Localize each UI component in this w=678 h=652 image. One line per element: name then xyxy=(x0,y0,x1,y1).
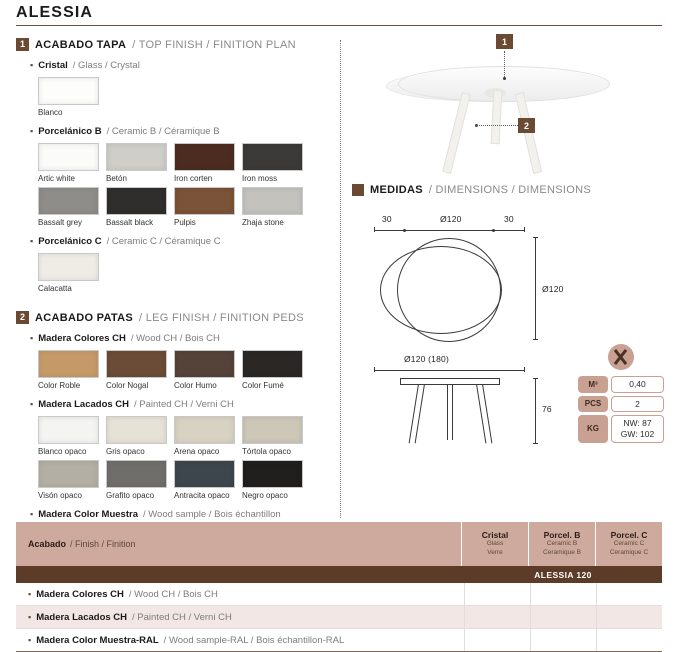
swatch-item[interactable]: Negro opaco xyxy=(242,460,306,500)
swatch-label: Artic white xyxy=(38,174,102,183)
dim-tick xyxy=(524,227,525,232)
swatch-row-porcc: Calacatta xyxy=(38,253,328,293)
swatch-label: Gris opaco xyxy=(106,447,170,456)
table-row-tr: / Wood CH / Bois CH xyxy=(129,589,218,600)
column-title-en: Ceramic C xyxy=(614,540,645,549)
dim-side-width: Ø120 (180) xyxy=(404,354,449,364)
section-header-top-finish: 1 ACABADO TAPA / TOP FINISH / FINITION P… xyxy=(16,38,328,51)
column-title-fr: Ceramique B xyxy=(543,549,581,558)
bullet-label-es: Madera Color Muestra xyxy=(38,509,138,520)
bullet-dot-icon: ▪ xyxy=(30,127,33,136)
swatch-chip[interactable] xyxy=(242,350,303,378)
swatch-label: Color Roble xyxy=(38,381,102,390)
swatch-item[interactable]: Color Nogal xyxy=(106,350,170,390)
swatch-item[interactable]: Bassalt black xyxy=(106,187,170,227)
table-cell xyxy=(464,629,530,651)
logistics-box: M³ 0,40 PCS 2 KG NW: 87 GW: 102 xyxy=(578,344,664,446)
table-row: ▪ Madera Lacados CH / Painted CH / Verni… xyxy=(16,606,662,629)
column-title-es: Cristal xyxy=(482,530,508,540)
swatch-label: Bassalt black xyxy=(106,218,170,227)
swatch-label: Betón xyxy=(106,174,170,183)
column-divider xyxy=(340,40,341,518)
table-row: ▪ Madera Colores CH / Wood CH / Bois CH xyxy=(16,583,662,606)
swatch-item[interactable]: Iron corten xyxy=(174,143,238,183)
table-header-label: Acabado / Finish / Finition xyxy=(16,522,461,566)
swatch-item[interactable]: Bassalt grey xyxy=(38,187,102,227)
section-badge-1: 1 xyxy=(16,38,29,51)
swatch-label: Antracita opaco xyxy=(174,491,238,500)
column-title-es: Porcel. C xyxy=(611,530,648,540)
swatch-chip[interactable] xyxy=(242,187,303,215)
logistics-key: PCS xyxy=(578,396,608,413)
dim-height: 76 xyxy=(542,404,552,414)
swatch-item[interactable]: Color Humo xyxy=(174,350,238,390)
logistics-row-pieces: PCS 2 xyxy=(578,396,664,413)
dim-tick xyxy=(403,229,406,232)
assembly-tools-icon xyxy=(608,344,634,370)
swatch-chip[interactable] xyxy=(174,460,235,488)
bullet-label-tr: / Wood sample / Bois échantillon xyxy=(143,509,281,520)
column-title-en: Glass xyxy=(487,540,504,549)
section-title-es: ACABADO TAPA xyxy=(35,39,126,51)
swatch-label: Blanco opaco xyxy=(38,447,102,456)
section-title-translations: / LEG FINISH / FINITION PEDS xyxy=(139,312,304,324)
swatch-item[interactable]: Antracita opaco xyxy=(174,460,238,500)
bullet-porcelanico-c: ▪ Porcelánico C / Ceramic C / Céramique … xyxy=(30,236,328,247)
page-title-block: ALESSIA xyxy=(16,4,662,26)
logistics-value: NW: 87 GW: 102 xyxy=(611,415,664,442)
section-header-leg-finish: 2 ACABADO PATAS / LEG FINISH / FINITION … xyxy=(16,311,328,324)
table-row-es: Madera Lacados CH xyxy=(36,612,127,623)
bullet-dot-icon: ▪ xyxy=(30,237,33,246)
swatch-label: Blanco xyxy=(38,108,102,117)
bullet-dot-icon: ▪ xyxy=(28,636,31,645)
bullet-label-tr: / Ceramic C / Céramique C xyxy=(107,236,221,247)
swatch-label: Iron corten xyxy=(174,174,238,183)
swatch-chip[interactable] xyxy=(174,187,235,215)
side-view-leg xyxy=(476,384,486,443)
swatch-chip[interactable] xyxy=(106,350,167,378)
measures-title-translations: / DIMENSIONS / DIMENSIONS xyxy=(429,184,591,196)
dim-left-extension: 30 xyxy=(382,214,392,224)
table-cell xyxy=(530,629,596,651)
column-title-fr: Verre xyxy=(487,549,503,558)
swatch-item[interactable]: Blanco opaco xyxy=(38,416,102,456)
section-title-es: ACABADO PATAS xyxy=(35,312,133,324)
swatch-label: Calacatta xyxy=(38,284,102,293)
title-rule xyxy=(16,25,662,26)
bullet-dot-icon: ▪ xyxy=(30,61,33,70)
bullet-label-tr: / Painted CH / Verni CH xyxy=(134,399,234,410)
callout-point-1 xyxy=(503,77,506,80)
bullet-dot-icon: ▪ xyxy=(28,613,31,622)
table-cell xyxy=(596,629,662,651)
swatch-item[interactable]: Arena opaco xyxy=(174,416,238,456)
bullet-dot-icon: ▪ xyxy=(30,334,33,343)
product-photo: 1 2 xyxy=(352,30,672,182)
logistics-row-weight: KG NW: 87 GW: 102 xyxy=(578,415,664,442)
swatch-item[interactable]: Visón opaco xyxy=(38,460,102,500)
dim-height-line xyxy=(535,378,536,444)
table-cell xyxy=(464,606,530,628)
table-header-row: Acabado / Finish / Finition Cristal Glas… xyxy=(16,522,662,566)
bullet-madera-muestra: ▪ Madera Color Muestra / Wood sample / B… xyxy=(30,509,328,520)
swatch-chip[interactable] xyxy=(242,143,303,171)
bullet-madera-colores: ▪ Madera Colores CH / Wood CH / Bois CH xyxy=(30,333,328,344)
swatch-item[interactable]: Pulpis xyxy=(174,187,238,227)
model-band: ALESSIA 120 xyxy=(16,566,662,583)
swatch-label: Bassalt grey xyxy=(38,218,102,227)
bullet-label-tr: / Wood CH / Bois CH xyxy=(131,333,220,344)
table-row-label: ▪ Madera Colores CH / Wood CH / Bois CH xyxy=(16,589,464,600)
swatch-item[interactable]: Iron moss xyxy=(242,143,306,183)
table-leg xyxy=(442,92,471,174)
side-view-apron xyxy=(400,384,500,385)
swatch-label: Grafito opaco xyxy=(106,491,170,500)
dim-tick xyxy=(492,229,495,232)
dim-depth: Ø120 xyxy=(542,284,564,294)
swatch-item[interactable]: Betón xyxy=(106,143,170,183)
dim-chain-line xyxy=(374,230,524,231)
swatch-row-lacquer-2: Visón opaco Grafito opaco Antracita opac… xyxy=(38,460,328,500)
measures-title-es: MEDIDAS xyxy=(370,184,423,196)
swatch-label: Arena opaco xyxy=(174,447,238,456)
logistics-row-volume: M³ 0,40 xyxy=(578,376,664,393)
callout-badge-2: 2 xyxy=(518,118,535,133)
swatch-chip[interactable] xyxy=(106,143,167,171)
column-title-en: Ceramic B xyxy=(547,540,577,549)
side-view-leg xyxy=(452,384,453,440)
swatch-label: Pulpis xyxy=(174,218,238,227)
callout-leader-2 xyxy=(476,125,518,126)
swatch-item[interactable]: Zhaja stone xyxy=(242,187,306,227)
bullet-madera-lacados: ▪ Madera Lacados CH / Painted CH / Verni… xyxy=(30,399,328,410)
swatch-chip[interactable] xyxy=(38,143,99,171)
swatch-row-wood: Color Roble Color Nogal Color Humo Color… xyxy=(38,350,328,390)
side-view-leg xyxy=(447,384,448,440)
bullet-label-es: Porcelánico B xyxy=(38,126,101,137)
swatch-chip[interactable] xyxy=(174,143,235,171)
column-title-fr: Ceramique C xyxy=(610,549,648,558)
swatch-chip[interactable] xyxy=(38,187,99,215)
bullet-label-es: Porcelánico C xyxy=(38,236,101,247)
dim-tick xyxy=(533,237,538,238)
swatch-row-lacquer-1: Blanco opaco Gris opaco Arena opaco Tórt… xyxy=(38,416,328,456)
swatch-label: Iron moss xyxy=(242,174,306,183)
measures-square-icon xyxy=(352,184,364,196)
section-badge-2: 2 xyxy=(16,311,29,324)
table-row-tr: / Painted CH / Verni CH xyxy=(132,612,232,623)
side-view-leg xyxy=(409,384,419,443)
bullet-dot-icon: ▪ xyxy=(28,590,31,599)
section-header-measures: MEDIDAS / DIMENSIONS / DIMENSIONS xyxy=(352,184,672,196)
callout-leader-1 xyxy=(504,51,505,77)
table-cell xyxy=(530,583,596,605)
swatch-item[interactable]: Grafito opaco xyxy=(106,460,170,500)
dim-width-line xyxy=(374,370,524,371)
side-view-top-surface xyxy=(400,378,500,379)
dim-tick xyxy=(533,443,538,444)
table-cell xyxy=(596,606,662,628)
table-row-es: Madera Colores CH xyxy=(36,589,124,600)
swatch-chip[interactable] xyxy=(38,416,99,444)
table-row-label: ▪ Madera Color Muestra-RAL / Wood sample… xyxy=(16,635,464,646)
dim-right-extension: 30 xyxy=(504,214,514,224)
page-title: ALESSIA xyxy=(16,4,662,22)
bullet-label-es: Madera Colores CH xyxy=(38,333,126,344)
dim-tick xyxy=(533,339,538,340)
swatch-chip[interactable] xyxy=(242,460,303,488)
swatch-item[interactable]: Calacatta xyxy=(38,253,102,293)
swatch-chip[interactable] xyxy=(106,416,167,444)
model-band-label: ALESSIA 120 xyxy=(464,570,662,580)
finish-options-column: 1 ACABADO TAPA / TOP FINISH / FINITION P… xyxy=(16,38,328,551)
swatch-item[interactable]: Blanco xyxy=(38,77,102,117)
dim-tick xyxy=(374,367,375,372)
table-column-porcelain-b: Porcel. B Ceramic B Ceramique B xyxy=(528,522,595,566)
table-row-cells xyxy=(464,583,662,605)
table-row-cells xyxy=(464,629,662,651)
bullet-label-es: Cristal xyxy=(38,60,68,71)
logistics-key: KG xyxy=(578,415,608,442)
section-title-translations: / TOP FINISH / FINITION PLAN xyxy=(132,39,296,51)
swatch-label: Color Humo xyxy=(174,381,238,390)
logistics-key: M³ xyxy=(578,376,608,393)
swatch-chip[interactable] xyxy=(38,253,99,281)
swatch-label: Color Fumé xyxy=(242,381,306,390)
swatch-chip[interactable] xyxy=(106,187,167,215)
bullet-dot-icon: ▪ xyxy=(30,400,33,409)
top-view-circle xyxy=(397,238,501,342)
swatch-chip[interactable] xyxy=(38,460,99,488)
swatch-item[interactable]: Artic white xyxy=(38,143,102,183)
spec-sheet-page: ALESSIA 1 ACABADO TAPA / TOP FINISH / FI… xyxy=(0,0,678,640)
dim-tick xyxy=(524,367,525,372)
swatch-row-cristal: Blanco xyxy=(38,77,328,117)
swatch-row-porcb-1: Artic white Betón Iron corten Iron moss xyxy=(38,143,328,183)
bullet-label-tr: / Glass / Crystal xyxy=(73,60,140,71)
swatch-chip[interactable] xyxy=(174,416,235,444)
dim-tick xyxy=(374,227,375,232)
table-column-cristal: Cristal Glass Verre xyxy=(461,522,528,566)
swatch-label: Zhaja stone xyxy=(242,218,306,227)
swatch-chip[interactable] xyxy=(174,350,235,378)
logistics-value: 0,40 xyxy=(611,376,664,393)
swatch-chip[interactable] xyxy=(38,77,99,105)
table-cell xyxy=(530,606,596,628)
bullet-label-es: Madera Lacados CH xyxy=(38,399,129,410)
finish-availability-table: Acabado / Finish / Finition Cristal Glas… xyxy=(16,522,662,652)
bullet-dot-icon: ▪ xyxy=(30,510,33,519)
swatch-label: Color Nogal xyxy=(106,381,170,390)
table-cell xyxy=(464,583,530,605)
column-title-es: Porcel. B xyxy=(544,530,581,540)
swatch-item[interactable]: Color Roble xyxy=(38,350,102,390)
table-row-cells xyxy=(464,606,662,628)
swatch-item[interactable]: Tórtola opaco xyxy=(242,416,306,456)
bullet-cristal: ▪ Cristal / Glass / Crystal xyxy=(30,60,328,71)
bullet-label-tr: / Ceramic B / Céramique B xyxy=(107,126,220,137)
table-header-tr: / Finish / Finition xyxy=(70,539,136,549)
table-cell xyxy=(596,583,662,605)
logistics-value: 2 xyxy=(611,396,664,413)
swatch-row-porcb-2: Bassalt grey Bassalt black Pulpis Zhaja … xyxy=(38,187,328,227)
table-row-tr: / Wood sample-RAL / Bois échantillon-RAL xyxy=(164,635,345,646)
table-leg xyxy=(515,92,542,174)
swatch-chip[interactable] xyxy=(38,350,99,378)
swatch-item[interactable]: Color Fumé xyxy=(242,350,306,390)
dim-depth-line xyxy=(535,238,536,340)
swatch-item[interactable]: Gris opaco xyxy=(106,416,170,456)
swatch-chip[interactable] xyxy=(106,460,167,488)
table-column-porcelain-c: Porcel. C Ceramic C Ceramique C xyxy=(595,522,662,566)
swatch-chip[interactable] xyxy=(242,416,303,444)
table-row-label: ▪ Madera Lacados CH / Painted CH / Verni… xyxy=(16,612,464,623)
swatch-label: Tórtola opaco xyxy=(242,447,306,456)
table-row-es: Madera Color Muestra-RAL xyxy=(36,635,158,646)
swatch-label: Visón opaco xyxy=(38,491,102,500)
table-header-es: Acabado xyxy=(28,539,66,549)
dim-diameter-top: Ø120 xyxy=(440,214,462,224)
dim-tick xyxy=(533,378,538,379)
table-leg xyxy=(491,90,503,144)
callout-badge-1: 1 xyxy=(496,34,513,49)
swatch-label: Negro opaco xyxy=(242,491,306,500)
bullet-porcelanico-b: ▪ Porcelánico B / Ceramic B / Céramique … xyxy=(30,126,328,137)
table-row: ▪ Madera Color Muestra-RAL / Wood sample… xyxy=(16,629,662,652)
